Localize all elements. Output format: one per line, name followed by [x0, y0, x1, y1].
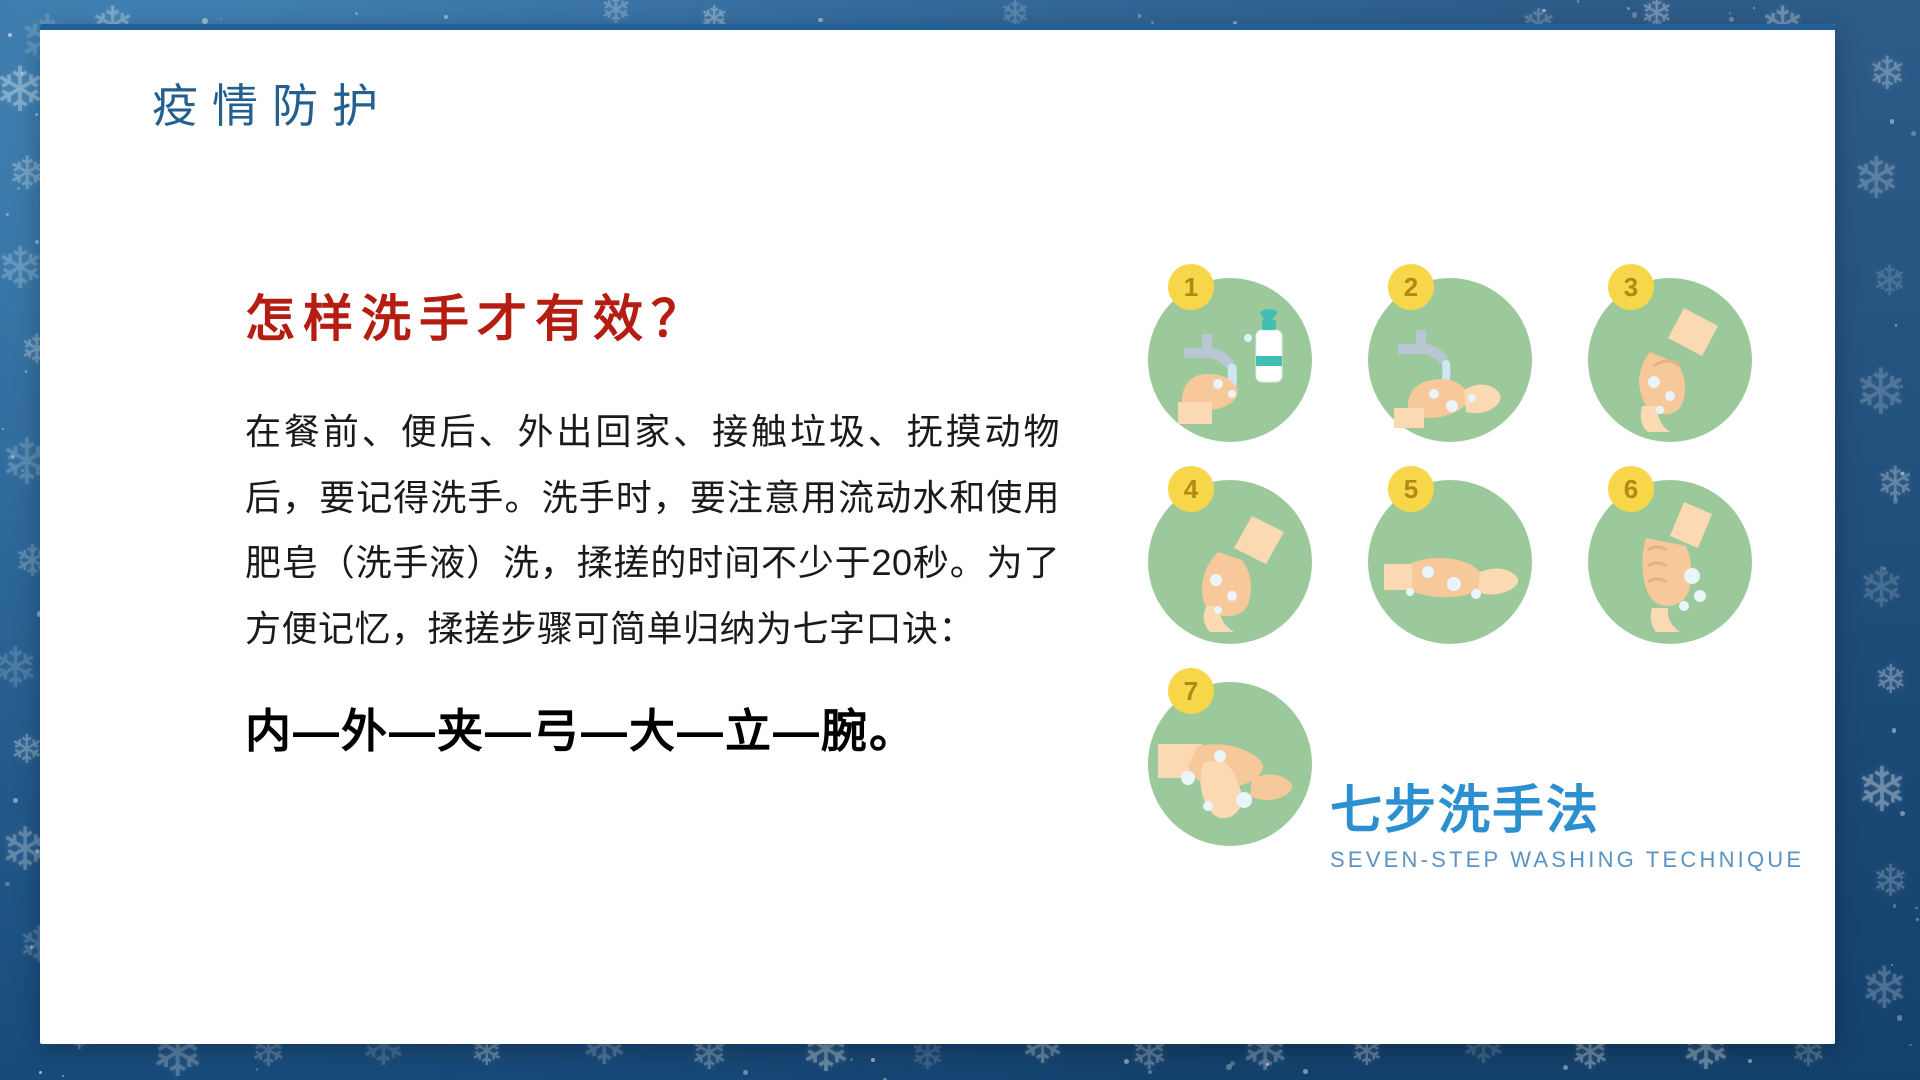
mnemonic-line: 内—外—夹—弓—大—立—腕。	[245, 695, 1075, 761]
handwash-step-3-icon	[1588, 278, 1752, 442]
title-top-rule	[40, 24, 1835, 30]
snow-dot	[1891, 964, 1893, 966]
logo-chinese-title: 七步洗手法	[1330, 784, 1760, 839]
handwash-step-5-icon	[1368, 480, 1532, 644]
step-badge: 6	[1608, 466, 1654, 512]
step-4: 4	[1140, 466, 1320, 646]
handwash-step-7-icon	[1148, 682, 1312, 846]
snow-dot	[1900, 472, 1903, 475]
handwash-step-6-icon	[1588, 480, 1752, 644]
snow-dot	[1883, 567, 1886, 570]
snow-dot	[1729, 12, 1731, 14]
step-1: 1	[1140, 264, 1320, 444]
step-badge: 3	[1608, 264, 1654, 310]
step-5: 5	[1360, 466, 1540, 646]
slide-card: 疫情防护 怎样洗手才有效？ 在餐前、便后、外出回家、接触垃圾、抚摸动物后，要记得…	[40, 24, 1835, 1044]
text-column: 怎样洗手才有效？ 在餐前、便后、外出回家、接触垃圾、抚摸动物后，要记得洗手。洗手…	[245, 279, 1075, 761]
snow-dot	[1563, 1065, 1568, 1070]
snow-dot	[1266, 1063, 1269, 1066]
step-2: 2	[1360, 264, 1540, 444]
step-badge: 2	[1388, 264, 1434, 310]
step-badge: 1	[1168, 264, 1214, 310]
snow-dot	[1911, 131, 1916, 136]
seven-step-logo: 七步洗手法 SEVEN-STEP WASHING TECHNIQUE	[1330, 784, 1760, 873]
seven-step-illustration: 1 2	[1140, 264, 1760, 870]
snow-dot	[871, 1058, 874, 1061]
snow-dot	[5, 882, 10, 887]
snow-dot	[444, 15, 448, 19]
snow-dot	[1748, 1059, 1752, 1063]
step-badge: 4	[1168, 466, 1214, 512]
snow-dot	[1632, 12, 1638, 18]
snow-dot	[39, 1071, 41, 1073]
body-paragraph: 在餐前、便后、外出回家、接触垃圾、抚摸动物后，要记得洗手。洗手时，要注意用流动水…	[245, 399, 1060, 661]
steps-row-2: 4 5	[1140, 466, 1760, 646]
snow-dot	[1753, 7, 1755, 9]
step-badge: 5	[1388, 466, 1434, 512]
page-title: 疫情防护	[152, 70, 392, 136]
snow-dot	[1890, 119, 1894, 123]
snow-dot	[1892, 728, 1897, 733]
step-3: 3	[1580, 264, 1760, 444]
snow-dot	[2, 428, 4, 430]
steps-row-1: 1 2	[1140, 264, 1760, 444]
handwash-step-1-icon	[1148, 278, 1312, 442]
snow-dot	[355, 12, 358, 15]
step-badge: 7	[1168, 668, 1214, 714]
snow-dot	[1900, 811, 1905, 816]
handwash-step-2-icon	[1368, 278, 1532, 442]
logo-english-subtitle: SEVEN-STEP WASHING TECHNIQUE	[1330, 847, 1760, 873]
section-heading: 怎样洗手才有效？	[245, 279, 1075, 351]
step-6: 6	[1580, 466, 1760, 646]
snow-dot	[818, 18, 822, 22]
handwash-step-4-icon	[1148, 480, 1312, 644]
snow-dot	[1542, 9, 1546, 13]
snow-dot	[1909, 1044, 1911, 1046]
snow-dot	[1303, 1069, 1308, 1074]
snow-dot	[6, 213, 8, 215]
step-7: 7	[1140, 668, 1320, 848]
snow-dot	[35, 849, 39, 853]
snow-dot	[743, 1070, 748, 1075]
